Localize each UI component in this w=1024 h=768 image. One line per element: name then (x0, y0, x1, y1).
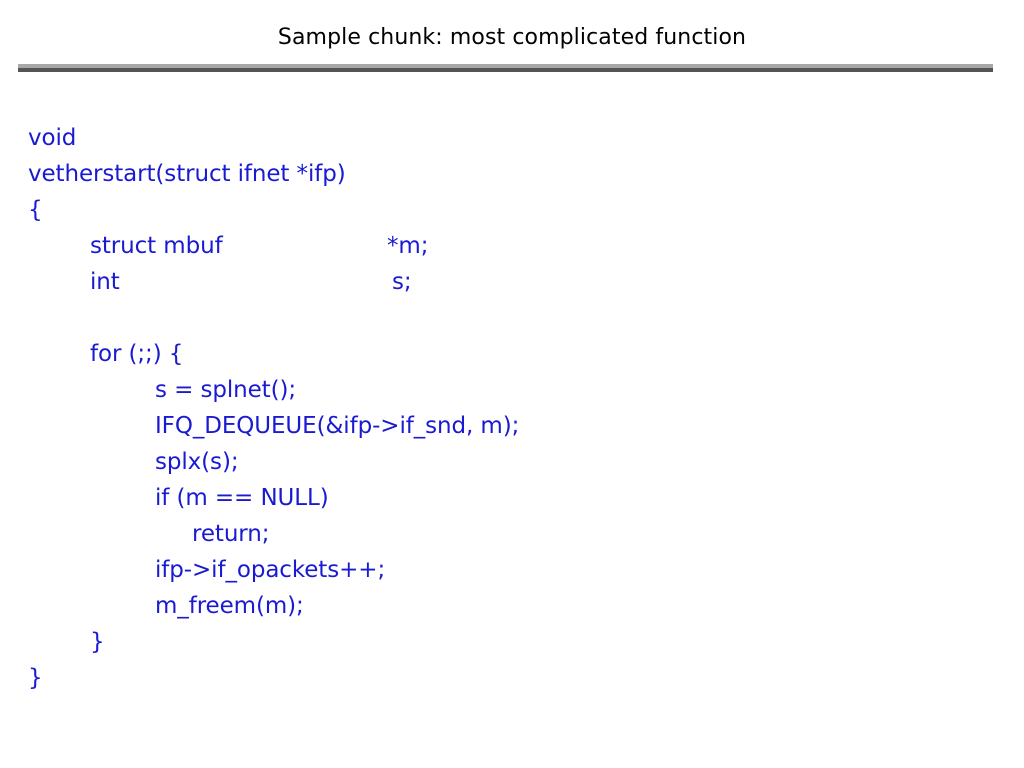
code-line: ifp->if_opackets++; (28, 552, 988, 588)
code-line: for (;;) { (28, 336, 988, 372)
code-line: vetherstart(struct ifnet *ifp) (28, 156, 988, 192)
code-line: } (28, 624, 988, 660)
code-line: { (28, 192, 988, 228)
title-divider-bottom (18, 68, 993, 72)
declaration-type: struct mbuf (90, 228, 223, 264)
declaration-name: s; (392, 264, 412, 300)
declaration-type: int (90, 264, 120, 300)
code-line: return; (28, 516, 988, 552)
title-divider (18, 64, 993, 72)
slide: Sample chunk: most complicated function … (0, 0, 1024, 768)
code-line: s = splnet(); (28, 372, 988, 408)
code-line: void (28, 120, 988, 156)
code-line: splx(s); (28, 444, 988, 480)
code-block: voidvetherstart(struct ifnet *ifp){struc… (28, 120, 988, 696)
declaration-name: *m; (387, 228, 428, 264)
code-line: ints; (28, 264, 988, 300)
code-line: IFQ_DEQUEUE(&ifp->if_snd, m); (28, 408, 988, 444)
code-line-blank (28, 300, 988, 336)
code-line: if (m == NULL) (28, 480, 988, 516)
page-title: Sample chunk: most complicated function (0, 24, 1024, 52)
code-line: } (28, 660, 988, 696)
code-line: m_freem(m); (28, 588, 988, 624)
code-line: struct mbuf*m; (28, 228, 988, 264)
